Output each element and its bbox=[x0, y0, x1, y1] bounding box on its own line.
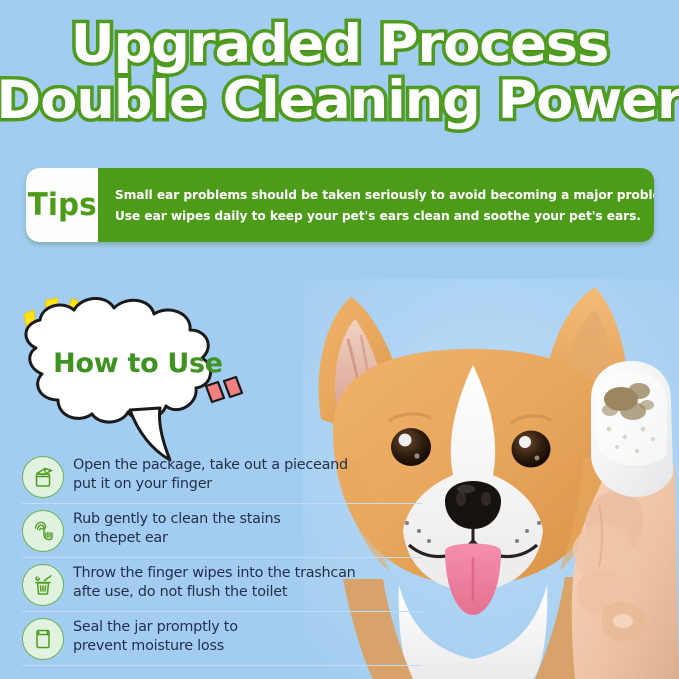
step-1-line-2: put it on your finger bbox=[73, 475, 348, 494]
step-3-line-1: Throw the finger wipes into the trashcan bbox=[73, 564, 356, 583]
how-to-use-steps: Open the package, take out a pieceand pu… bbox=[22, 450, 422, 666]
tips-label-panel: Tips bbox=[26, 168, 98, 242]
step-4-line-2: prevent moisture loss bbox=[73, 637, 238, 656]
step-2-line-2: on thepet ear bbox=[73, 529, 281, 548]
finger-rub-icon bbox=[22, 510, 64, 552]
step-2-line-1: Rub gently to clean the stains bbox=[73, 510, 281, 529]
accent-dashes-icon bbox=[206, 377, 242, 402]
tips-body: Small ear problems should be taken serio… bbox=[98, 168, 654, 242]
page-title: Upgraded Process Double Cleaning Power bbox=[0, 18, 679, 128]
tips-line-1: Small ear problems should be taken serio… bbox=[115, 187, 654, 202]
step-4-line-1: Seal the jar promptly to bbox=[73, 618, 238, 637]
how-to-use-bubble: How to Use bbox=[2, 282, 270, 462]
open-jar-icon bbox=[22, 456, 64, 498]
trash-can-icon bbox=[22, 564, 64, 606]
list-item: Seal the jar promptly to prevent moistur… bbox=[22, 611, 422, 666]
bubble-title: How to Use bbox=[38, 348, 238, 379]
list-item: Throw the finger wipes into the trashcan… bbox=[22, 557, 422, 611]
list-item-text: Open the package, take out a pieceand pu… bbox=[73, 454, 348, 494]
list-item-text: Rub gently to clean the stains on thepet… bbox=[73, 508, 281, 548]
list-item: Rub gently to clean the stains on thepet… bbox=[22, 503, 422, 557]
sealed-jar-icon bbox=[22, 618, 64, 660]
step-1-line-1: Open the package, take out a pieceand bbox=[73, 456, 348, 475]
list-item-text: Throw the finger wipes into the trashcan… bbox=[73, 562, 356, 602]
tips-line-2: Use ear wipes daily to keep your pet's e… bbox=[115, 208, 654, 223]
tips-banner: Tips Small ear problems should be taken … bbox=[26, 168, 654, 242]
tips-label: Tips bbox=[28, 187, 97, 223]
headline-line-1: Upgraded Process bbox=[0, 18, 679, 72]
headline-line-2: Double Cleaning Power bbox=[0, 74, 679, 128]
step-3-line-2: afte use, do not flush the toilet bbox=[73, 583, 356, 602]
infographic-canvas: Upgraded Process Double Cleaning Power T… bbox=[0, 0, 679, 679]
list-item: Open the package, take out a pieceand pu… bbox=[22, 450, 422, 503]
list-item-text: Seal the jar promptly to prevent moistur… bbox=[73, 616, 238, 656]
